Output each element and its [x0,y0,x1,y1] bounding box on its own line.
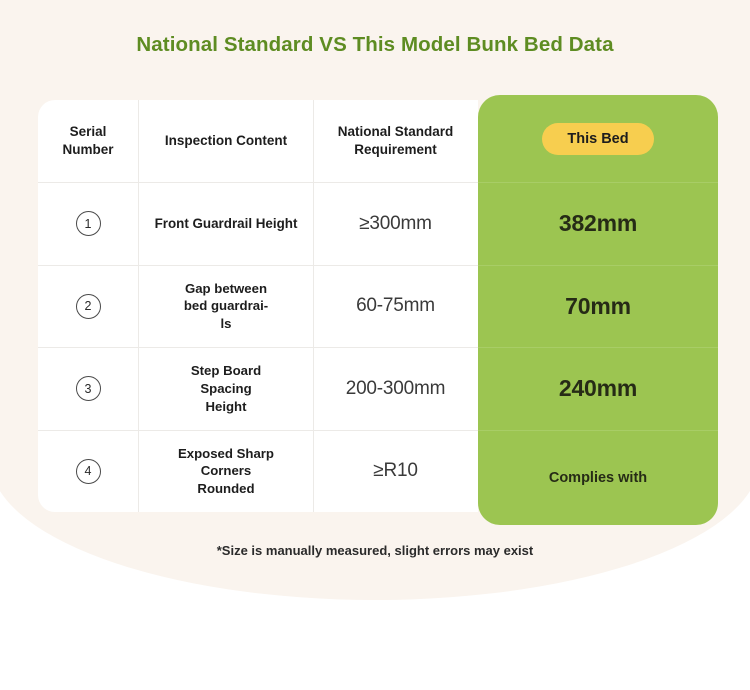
row-inspection-content: Exposed Sharp Corners Rounded [138,431,314,513]
table-row: 1 Front Guardrail Height ≥300mm [38,182,478,265]
row-serial-number: 4 [38,431,138,513]
row-inspection-content: Step Board Spacing Height [138,348,314,430]
content-line: ls [220,316,231,331]
this-bed-cell: Complies with [478,430,718,525]
this-bed-value: 70mm [565,293,631,320]
table-row: 3 Step Board Spacing Height 200-300mm [38,347,478,430]
header-national-standard: National Standard Requirement [314,100,477,182]
content-line: Spacing [200,381,251,396]
page-title: National Standard VS This Model Bunk Bed… [0,33,750,57]
content-line: Height [205,399,246,414]
row-serial-number: 2 [38,266,138,348]
inspection-content-text: Front Guardrail Height [155,215,298,233]
standard-value-text: ≥R10 [373,460,417,482]
row-national-standard: 60-75mm [314,266,477,348]
circled-number-icon: 3 [76,376,101,401]
content-line: bed guardrai- [184,298,268,313]
this-bed-value: 240mm [559,375,637,402]
this-bed-cell: 382mm [478,182,718,265]
content-line: Exposed Sharp [178,446,274,461]
inspection-content-text: Step Board Spacing Height [191,362,261,415]
this-bed-value: Complies with [549,470,647,486]
row-national-standard: 200-300mm [314,348,477,430]
table-header-row: Serial Number Inspection Content Nationa… [38,100,478,182]
row-serial-number: 3 [38,348,138,430]
row-national-standard: ≥300mm [314,183,477,265]
footnote-disclaimer: *Size is manually measured, slight error… [0,543,750,558]
this-bed-cell: 240mm [478,347,718,430]
row-inspection-content: Front Guardrail Height [138,183,314,265]
inspection-content-text: Exposed Sharp Corners Rounded [178,445,274,498]
content-line: Step Board [191,363,261,378]
standard-value-text: ≥300mm [359,213,432,235]
table-grid: Serial Number Inspection Content Nationa… [38,100,478,512]
circled-number-icon: 2 [76,294,101,319]
content-line: Gap between [185,281,267,296]
infographic-page: National Standard VS This Model Bunk Bed… [0,0,750,690]
standard-value-text: 200-300mm [346,378,446,400]
header-serial-number: Serial Number [38,100,138,182]
circled-number-icon: 4 [76,459,101,484]
circled-number-icon: 1 [76,211,101,236]
row-inspection-content: Gap between bed guardrai- ls [138,266,314,348]
comparison-table-card: Serial Number Inspection Content Nationa… [38,100,478,512]
this-bed-badge: This Bed [542,123,654,155]
standard-value-text: 60-75mm [356,295,435,317]
row-national-standard: ≥R10 [314,431,477,513]
this-bed-header: This Bed [478,95,718,182]
content-line: Corners [201,463,252,478]
table-row: 2 Gap between bed guardrai- ls 60-75mm [38,265,478,348]
this-bed-cell: 70mm [478,265,718,348]
this-bed-highlight-column: This Bed 382mm 70mm 240mm Complies with [478,95,718,525]
table-row: 4 Exposed Sharp Corners Rounded ≥R10 [38,430,478,513]
content-line: Rounded [197,481,254,496]
header-inspection-content: Inspection Content [138,100,314,182]
this-bed-value: 382mm [559,210,637,237]
inspection-content-text: Gap between bed guardrai- ls [184,280,268,333]
row-serial-number: 1 [38,183,138,265]
